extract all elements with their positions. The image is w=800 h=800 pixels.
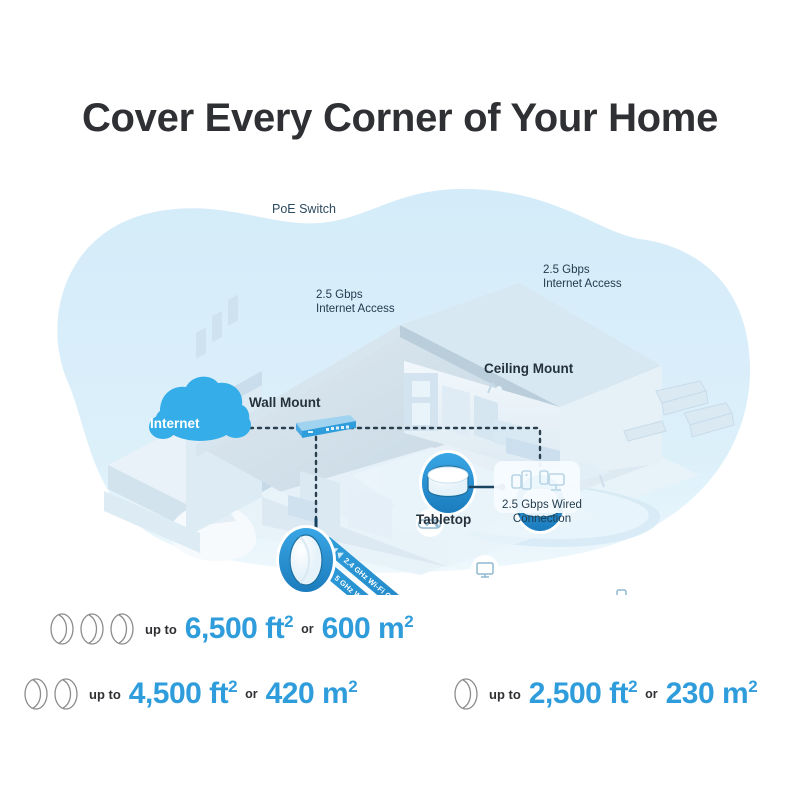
ceiling-mount-link-label: 2.5 Gbps Internet Access <box>543 263 622 291</box>
coverage-area-sqm-exponent: 2 <box>404 612 413 631</box>
deco-unit-icon <box>78 612 106 646</box>
wired-connection-label: 2.5 Gbps Wired Connection <box>487 498 597 526</box>
page-root: Cover Every Corner of Your Home <box>0 0 800 800</box>
coverage-area-sqm-value: 230 m <box>666 677 749 710</box>
coverage-summary: up to 6,500 ft2 or 600 m2 up to 4,500 ft… <box>0 600 800 750</box>
coverage-area-sqft-exponent: 2 <box>228 677 237 696</box>
coverage-or-label: or <box>245 687 258 701</box>
coverage-area-sqm: 230 m2 <box>666 677 758 711</box>
device-label-ceiling-mount: Ceiling Mount <box>484 361 573 376</box>
coverage-upto-label: up to <box>489 687 521 702</box>
coverage-area-sqm-value: 600 m <box>322 612 405 645</box>
coverage-row-3-pack: up to 6,500 ft2 or 600 m2 <box>48 612 413 646</box>
coverage-or-label: or <box>645 687 658 701</box>
wired-connection-type: Connection <box>487 512 597 526</box>
coverage-or-label: or <box>301 622 314 636</box>
coverage-area-sqft-value: 2,500 ft <box>529 677 628 710</box>
coverage-area-sqft: 4,500 ft2 <box>129 677 237 711</box>
deco-unit-icon <box>48 612 76 646</box>
wall-mount-link-type: Internet Access <box>316 302 395 316</box>
coverage-area-sqm: 600 m2 <box>322 612 414 646</box>
network-topology-diagram: 2.4 GHz Wi-Fi Connection 5 GHz Wi-Fi Con… <box>0 175 800 595</box>
internet-cloud-label: Internet <box>150 416 200 431</box>
coverage-area-sqft-value: 6,500 ft <box>185 612 284 645</box>
device-node-tabletop <box>419 450 477 516</box>
device-label-wall-mount: Wall Mount <box>249 395 320 410</box>
coverage-unit-icons-1 <box>452 677 480 711</box>
scene-illustration: 2.4 GHz Wi-Fi Connection 5 GHz Wi-Fi Con… <box>0 175 800 595</box>
page-title: Cover Every Corner of Your Home <box>0 96 800 141</box>
coverage-row-1-pack: up to 2,500 ft2 or 230 m2 <box>452 677 757 711</box>
wall-mount-link-speed: 2.5 Gbps <box>316 288 395 302</box>
poe-switch-label: PoE Switch <box>272 203 336 216</box>
coverage-area-sqft-exponent: 2 <box>628 677 637 696</box>
coverage-unit-icons-2 <box>22 677 80 711</box>
coverage-area-sqm-value: 420 m <box>266 677 349 710</box>
ceiling-mount-link-type: Internet Access <box>543 277 622 291</box>
device-label-tabletop: Tabletop <box>416 512 471 527</box>
coverage-area-sqm: 420 m2 <box>266 677 358 711</box>
coverage-upto-label: up to <box>145 622 177 637</box>
coverage-unit-icons-3 <box>48 612 136 646</box>
device-node-wall-mount <box>276 525 336 595</box>
coverage-area-sqft-exponent: 2 <box>284 612 293 631</box>
coverage-area-sqm-exponent: 2 <box>348 677 357 696</box>
client-badge-phone-poolside <box>607 583 635 595</box>
deco-unit-icon <box>108 612 136 646</box>
wall-mount-link-label: 2.5 Gbps Internet Access <box>316 288 395 316</box>
ceiling-mount-link-speed: 2.5 Gbps <box>543 263 622 277</box>
coverage-area-sqft: 2,500 ft2 <box>529 677 637 711</box>
deco-unit-icon <box>452 677 480 711</box>
wired-connection-speed: 2.5 Gbps Wired <box>487 498 597 512</box>
coverage-area-sqft: 6,500 ft2 <box>185 612 293 646</box>
coverage-area-sqm-exponent: 2 <box>748 677 757 696</box>
client-badge-monitor <box>471 555 499 583</box>
deco-unit-icon <box>52 677 80 711</box>
coverage-upto-label: up to <box>89 687 121 702</box>
deco-unit-icon <box>22 677 50 711</box>
coverage-row-2-pack: up to 4,500 ft2 or 420 m2 <box>22 677 357 711</box>
coverage-area-sqft-value: 4,500 ft <box>129 677 228 710</box>
